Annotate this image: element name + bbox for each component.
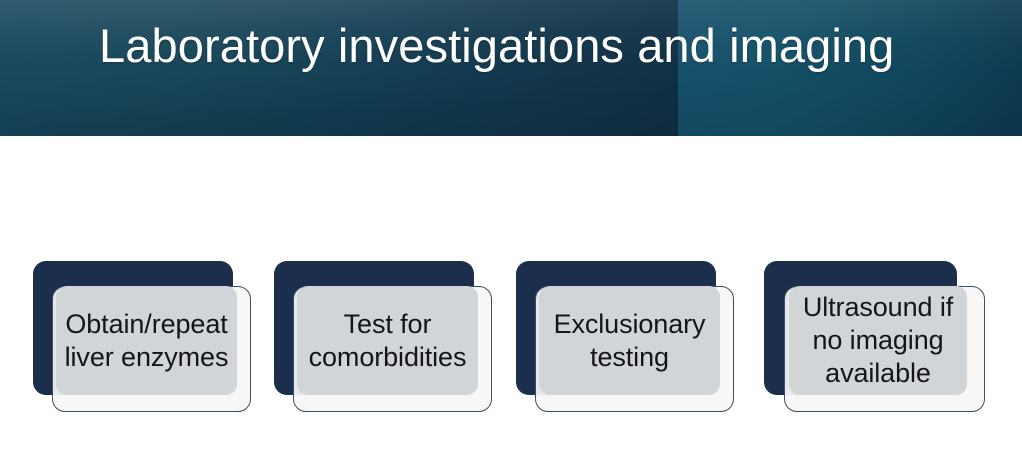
card-label: Ultrasound if no imaging available: [803, 291, 953, 390]
title-banner: Laboratory investigations and imaging: [0, 0, 1022, 136]
card-group-obtain-repeat-liver-enzymes[interactable]: Obtain/repeat liver enzymes: [33, 261, 252, 413]
card-panel: Obtain/repeat liver enzymes: [56, 286, 237, 395]
card-panel: Exclusionary testing: [539, 286, 720, 395]
card-label: Obtain/repeat liver enzymes: [65, 308, 229, 374]
card-panel: Ultrasound if no imaging available: [789, 286, 967, 395]
card-group-exclusionary-testing[interactable]: Exclusionary testing: [516, 261, 735, 413]
slide-title: Laboratory investigations and imaging: [99, 15, 894, 77]
card-row: Obtain/repeat liver enzymes Test for com…: [0, 136, 1022, 458]
card-group-test-for-comorbidities[interactable]: Test for comorbidities: [274, 261, 493, 413]
card-panel: Test for comorbidities: [297, 286, 478, 395]
card-group-ultrasound-if-no-imaging-available[interactable]: Ultrasound if no imaging available: [764, 261, 983, 413]
slide: Laboratory investigations and imaging Ob…: [0, 0, 1022, 458]
card-label: Exclusionary testing: [554, 308, 706, 374]
card-label: Test for comorbidities: [309, 308, 467, 374]
